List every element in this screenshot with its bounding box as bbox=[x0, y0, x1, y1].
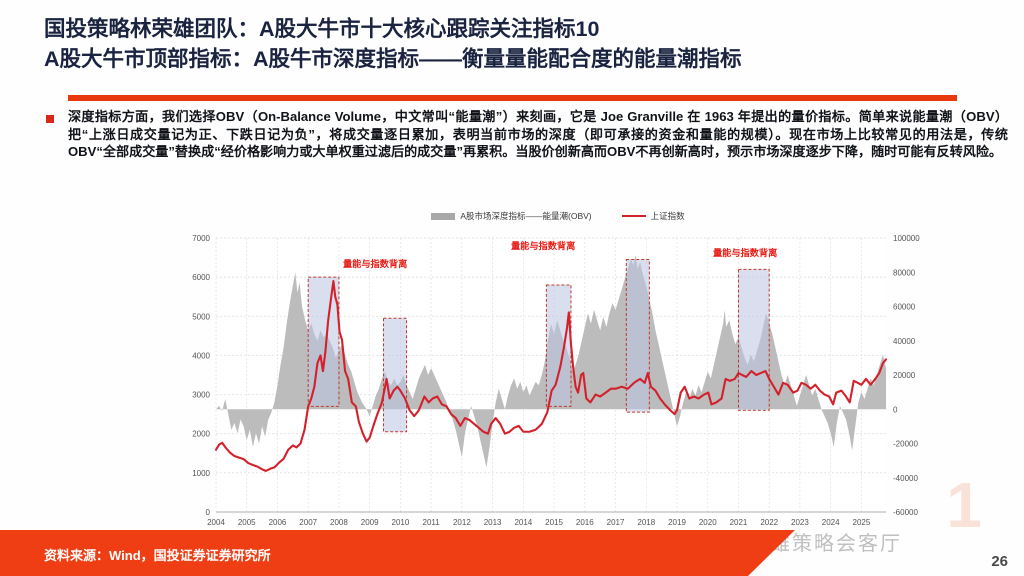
svg-text:4000: 4000 bbox=[192, 351, 210, 360]
svg-text:2015: 2015 bbox=[545, 518, 563, 527]
svg-text:7000: 7000 bbox=[192, 234, 210, 243]
chart-plot-host: 01000200030004000500060007000-60000-4000… bbox=[168, 230, 948, 538]
svg-text:60000: 60000 bbox=[893, 303, 916, 312]
annotation-divergence-2: 量能与指数背离 bbox=[511, 238, 575, 252]
svg-text:2005: 2005 bbox=[238, 518, 256, 527]
svg-text:80000: 80000 bbox=[893, 268, 916, 277]
svg-text:2017: 2017 bbox=[607, 518, 625, 527]
svg-text:1000: 1000 bbox=[192, 469, 210, 478]
svg-text:2023: 2023 bbox=[791, 518, 809, 527]
annotation-divergence-3: 量能与指数背离 bbox=[713, 245, 777, 259]
title-line-2: A股大牛市顶部指标：A股牛市深度指标——衡量量能配合度的能量潮指标 bbox=[44, 44, 1014, 74]
svg-text:2016: 2016 bbox=[576, 518, 594, 527]
slide-root: 国投策略林荣雄团队：A股大牛市十大核心跟踪关注指标10 A股大牛市顶部指标：A股… bbox=[0, 0, 1024, 576]
svg-text:100000: 100000 bbox=[893, 234, 920, 243]
body-paragraph-block: 深度指标方面，我们选择OBV（On-Balance Volume，中文常叫“能量… bbox=[46, 108, 1008, 161]
svg-text:6000: 6000 bbox=[192, 273, 210, 282]
body-paragraph-text: 深度指标方面，我们选择OBV（On-Balance Volume，中文常叫“能量… bbox=[68, 108, 1008, 161]
legend-label-shanghai-index: 上证指数 bbox=[651, 210, 685, 222]
svg-text:2020: 2020 bbox=[699, 518, 717, 527]
svg-text:2019: 2019 bbox=[668, 518, 686, 527]
obv-chart: A股市场深度指标——能量潮(OBV) 上证指数 0100020003000400… bbox=[168, 208, 948, 538]
svg-text:2025: 2025 bbox=[853, 518, 871, 527]
svg-text:2007: 2007 bbox=[299, 518, 317, 527]
svg-text:2013: 2013 bbox=[484, 518, 502, 527]
svg-text:-40000: -40000 bbox=[893, 474, 918, 483]
svg-text:20000: 20000 bbox=[893, 371, 916, 380]
legend-swatch-obv-icon bbox=[431, 213, 455, 220]
svg-text:2011: 2011 bbox=[423, 518, 441, 527]
legend-item-shanghai-index: 上证指数 bbox=[622, 210, 685, 222]
title-line-1: 国投策略林荣雄团队：A股大牛市十大核心跟踪关注指标10 bbox=[44, 14, 1014, 44]
page-number: 26 bbox=[991, 553, 1008, 570]
svg-text:2022: 2022 bbox=[760, 518, 778, 527]
page-title: 国投策略林荣雄团队：A股大牛市十大核心跟踪关注指标10 A股大牛市顶部指标：A股… bbox=[44, 14, 1014, 74]
svg-text:2009: 2009 bbox=[361, 518, 379, 527]
svg-text:2010: 2010 bbox=[392, 518, 410, 527]
legend-label-obv: A股市场深度指标——能量潮(OBV) bbox=[460, 210, 591, 222]
chart-legend: A股市场深度指标——能量潮(OBV) 上证指数 bbox=[168, 208, 948, 224]
svg-text:2018: 2018 bbox=[637, 518, 655, 527]
svg-text:2014: 2014 bbox=[514, 518, 532, 527]
svg-text:2004: 2004 bbox=[207, 518, 225, 527]
legend-swatch-index-icon bbox=[622, 215, 646, 218]
title-divider-rule bbox=[68, 95, 957, 101]
svg-text:2000: 2000 bbox=[192, 430, 210, 439]
footer-source-text: 资料来源：Wind，国投证券证券研究所 bbox=[44, 545, 271, 564]
svg-text:2006: 2006 bbox=[269, 518, 287, 527]
svg-text:2008: 2008 bbox=[330, 518, 348, 527]
svg-text:2021: 2021 bbox=[730, 518, 748, 527]
svg-text:-60000: -60000 bbox=[893, 508, 918, 517]
bullet-square-icon bbox=[46, 115, 54, 123]
svg-text:5000: 5000 bbox=[192, 312, 210, 321]
svg-text:0: 0 bbox=[893, 405, 898, 414]
svg-text:0: 0 bbox=[206, 508, 211, 517]
svg-text:40000: 40000 bbox=[893, 337, 916, 346]
svg-text:2024: 2024 bbox=[822, 518, 840, 527]
svg-text:3000: 3000 bbox=[192, 391, 210, 400]
svg-text:-20000: -20000 bbox=[893, 440, 918, 449]
chart-svg: 01000200030004000500060007000-60000-4000… bbox=[168, 230, 948, 538]
watermark-big-numeral: 1 bbox=[946, 468, 982, 542]
legend-item-obv: A股市场深度指标——能量潮(OBV) bbox=[431, 210, 591, 222]
svg-text:2012: 2012 bbox=[453, 518, 471, 527]
annotation-divergence-1: 量能与指数背离 bbox=[343, 256, 407, 270]
